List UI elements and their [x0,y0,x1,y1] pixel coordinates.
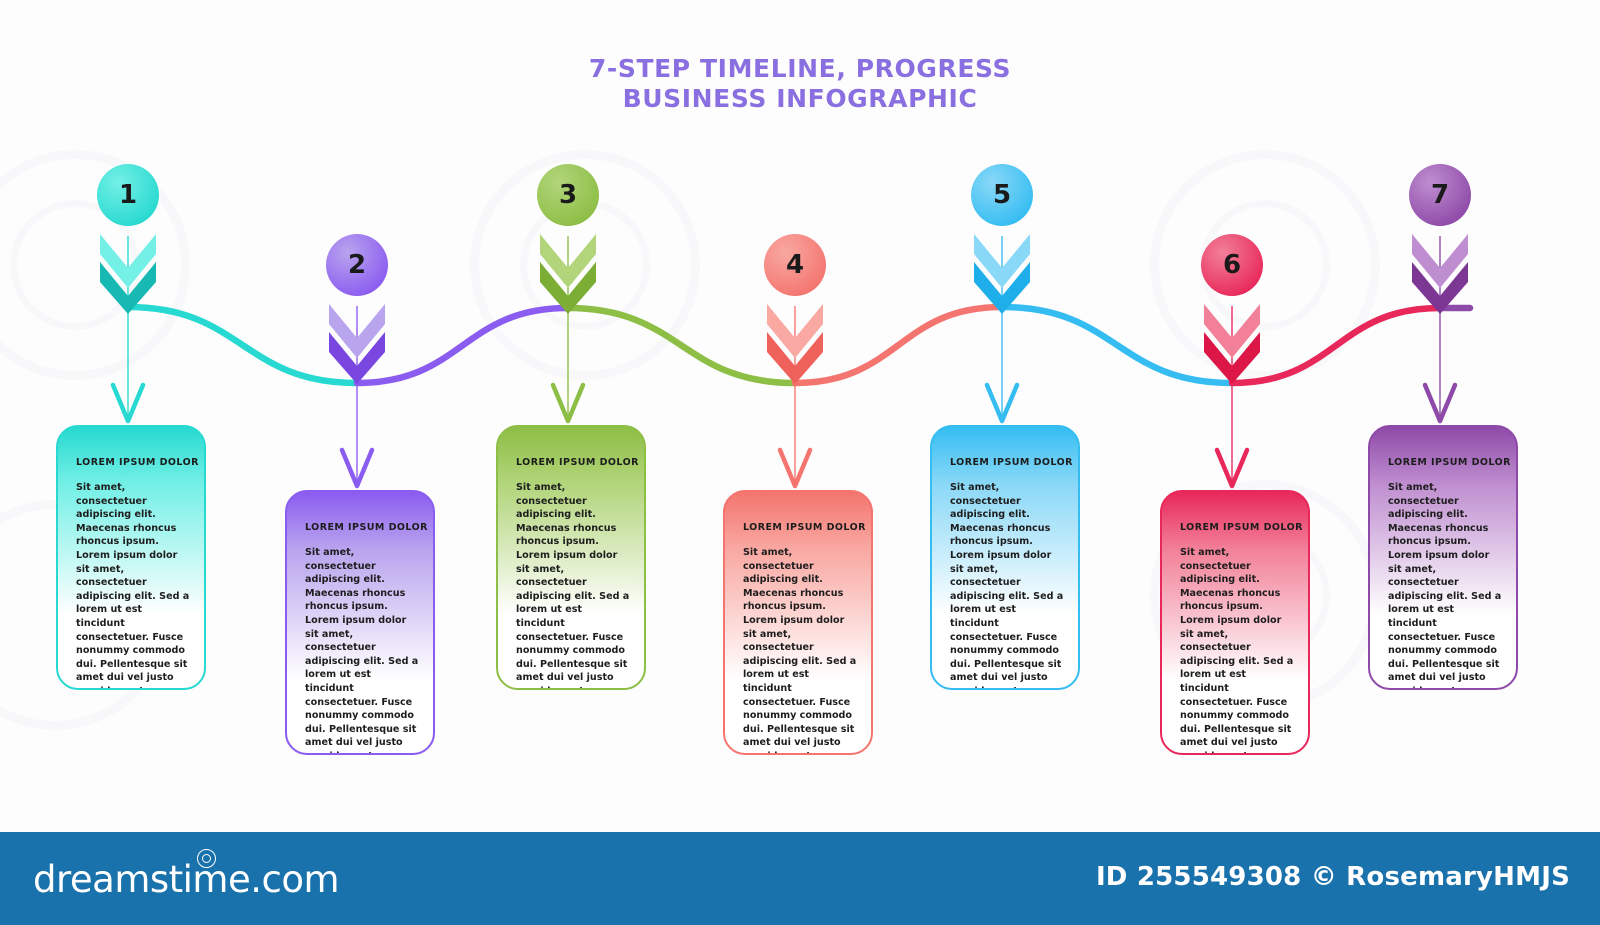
card-body-5: Sit amet, consectetuer adipiscing elit. … [950,481,1066,690]
step-circle-3[interactable]: 3 [537,164,599,226]
step-card-7[interactable]: LOREM IPSUM DOLORSit amet, consectetuer … [1368,425,1518,690]
card-content-4: LOREM IPSUM DOLORSit amet, consectetuer … [743,522,859,755]
step-card-5[interactable]: LOREM IPSUM DOLORSit amet, consectetuer … [930,425,1080,690]
chevron-down-icon-5 [964,228,1040,314]
step-circle-2[interactable]: 2 [326,234,388,296]
image-credit: ID 255549308 © RosemaryHMJS [1096,862,1570,892]
step-card-2[interactable]: LOREM IPSUM DOLORSit amet, consectetuer … [285,490,435,755]
card-heading-4: LOREM IPSUM DOLOR [743,522,859,533]
card-content-3: LOREM IPSUM DOLORSit amet, consectetuer … [516,457,632,690]
step-number-5: 5 [993,180,1011,210]
card-heading-6: LOREM IPSUM DOLOR [1180,522,1296,533]
step-number-1: 1 [119,180,137,210]
dreamstime-logo: dreamstime.com [33,858,339,901]
step-number-7: 7 [1431,180,1449,210]
step-card-1[interactable]: LOREM IPSUM DOLORSit amet, consectetuer … [56,425,206,690]
step-card-6[interactable]: LOREM IPSUM DOLORSit amet, consectetuer … [1160,490,1310,755]
card-body-1: Sit amet, consectetuer adipiscing elit. … [76,481,192,690]
step-circle-1[interactable]: 1 [97,164,159,226]
card-content-7: LOREM IPSUM DOLORSit amet, consectetuer … [1388,457,1504,690]
step-number-3: 3 [559,180,577,210]
step-circle-7[interactable]: 7 [1409,164,1471,226]
timeline-wave [0,0,1600,925]
card-body-4: Sit amet, consectetuer adipiscing elit. … [743,546,859,755]
card-heading-5: LOREM IPSUM DOLOR [950,457,1066,468]
dreamstime-footer-bar: dreamstime.com ID 255549308 © RosemaryHM… [0,832,1600,925]
card-heading-2: LOREM IPSUM DOLOR [305,522,421,533]
step-card-4[interactable]: LOREM IPSUM DOLORSit amet, consectetuer … [723,490,873,755]
step-number-4: 4 [786,250,804,280]
card-heading-1: LOREM IPSUM DOLOR [76,457,192,468]
card-content-6: LOREM IPSUM DOLORSit amet, consectetuer … [1180,522,1296,755]
card-body-2: Sit amet, consectetuer adipiscing elit. … [305,546,421,755]
chevron-down-icon-2 [319,298,395,384]
card-heading-7: LOREM IPSUM DOLOR [1388,457,1504,468]
registered-mark-icon [197,849,216,868]
chevron-down-icon-3 [530,228,606,314]
chevron-down-icon-6 [1194,298,1270,384]
infographic-canvas: 7-STEP TIMELINE, PROGRESS BUSINESS INFOG… [0,0,1600,925]
card-content-1: LOREM IPSUM DOLORSit amet, consectetuer … [76,457,192,690]
step-circle-5[interactable]: 5 [971,164,1033,226]
card-body-7: Sit amet, consectetuer adipiscing elit. … [1388,481,1504,690]
card-body-3: Sit amet, consectetuer adipiscing elit. … [516,481,632,690]
card-content-5: LOREM IPSUM DOLORSit amet, consectetuer … [950,457,1066,690]
step-circle-6[interactable]: 6 [1201,234,1263,296]
step-number-2: 2 [348,250,366,280]
chevron-down-icon-1 [90,228,166,314]
step-circle-4[interactable]: 4 [764,234,826,296]
step-number-6: 6 [1223,250,1241,280]
card-heading-3: LOREM IPSUM DOLOR [516,457,632,468]
chevron-down-icon-7 [1402,228,1478,314]
chevron-down-icon-4 [757,298,833,384]
card-content-2: LOREM IPSUM DOLORSit amet, consectetuer … [305,522,421,755]
card-body-6: Sit amet, consectetuer adipiscing elit. … [1180,546,1296,755]
step-card-3[interactable]: LOREM IPSUM DOLORSit amet, consectetuer … [496,425,646,690]
